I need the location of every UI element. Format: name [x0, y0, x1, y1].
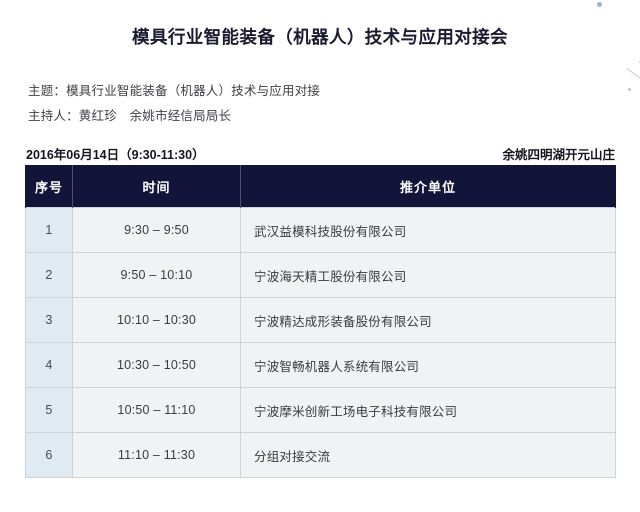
cell-time-slot: 10:30 – 10:50: [73, 343, 241, 388]
event-date: 2016年06月14日（9:30-11:30）: [26, 144, 205, 163]
cell-sequence-number: 5: [26, 388, 73, 433]
cell-sequence-number: 6: [26, 433, 73, 478]
table-body: 19:30 – 9:50武汉益模科技股份有限公司29:50 – 10:10宁波海…: [26, 208, 616, 478]
event-venue: 余姚四明湖开元山庄: [502, 144, 615, 163]
cell-time-slot: 11:10 – 11:30: [73, 433, 241, 478]
decorative-dot-icon: [628, 88, 631, 91]
column-header-no: 序号: [26, 165, 73, 208]
cell-sequence-number: 1: [26, 208, 73, 253]
cell-organization: 分组对接交流: [241, 433, 616, 478]
cell-organization: 宁波摩米创新工场电子科技有限公司: [241, 388, 616, 433]
subject-line: 主题：模具行业智能装备（机器人）技术与应用对接: [28, 80, 320, 99]
cell-time-slot: 10:50 – 11:10: [73, 388, 241, 433]
table-row: 611:10 – 11:30分组对接交流: [26, 433, 616, 478]
cell-sequence-number: 4: [26, 343, 73, 388]
date-venue-row: 2016年06月14日（9:30-11:30） 余姚四明湖开元山庄: [26, 144, 615, 162]
host-line: 主持人：黄红珍 余姚市经信局局长: [28, 105, 231, 124]
table-row: 29:50 – 10:10宁波海天精工股份有限公司: [26, 253, 616, 298]
table-row: 19:30 – 9:50武汉益模科技股份有限公司: [26, 208, 616, 253]
cell-time-slot: 9:30 – 9:50: [73, 208, 241, 253]
cell-sequence-number: 2: [26, 253, 73, 298]
cell-sequence-number: 3: [26, 298, 73, 343]
schedule-table-container: 序号 时间 推介单位 19:30 – 9:50武汉益模科技股份有限公司29:50…: [25, 165, 615, 478]
cell-organization: 武汉益模科技股份有限公司: [241, 208, 616, 253]
table-header-row: 序号 时间 推介单位: [26, 165, 616, 208]
cell-time-slot: 9:50 – 10:10: [73, 253, 241, 298]
cell-organization: 宁波精达成形装备股份有限公司: [241, 298, 616, 343]
table-row: 310:10 – 10:30宁波精达成形装备股份有限公司: [26, 298, 616, 343]
table-row: 410:30 – 10:50宁波智畅机器人系统有限公司: [26, 343, 616, 388]
decorative-dot-icon: [597, 2, 602, 7]
cell-organization: 宁波智畅机器人系统有限公司: [241, 343, 616, 388]
page-root: 模具行业智能装备（机器人）技术与应用对接会 主题：模具行业智能装备（机器人）技术…: [0, 0, 640, 512]
column-header-org: 推介单位: [241, 165, 616, 208]
schedule-table: 序号 时间 推介单位 19:30 – 9:50武汉益模科技股份有限公司29:50…: [25, 165, 616, 478]
page-title: 模具行业智能装备（机器人）技术与应用对接会: [0, 24, 640, 49]
cell-organization: 宁波海天精工股份有限公司: [241, 253, 616, 298]
decorative-line-icon: [626, 68, 640, 82]
table-header: 序号 时间 推介单位: [26, 165, 616, 208]
column-header-time: 时间: [73, 165, 241, 208]
table-row: 510:50 – 11:10宁波摩米创新工场电子科技有限公司: [26, 388, 616, 433]
cell-time-slot: 10:10 – 10:30: [73, 298, 241, 343]
